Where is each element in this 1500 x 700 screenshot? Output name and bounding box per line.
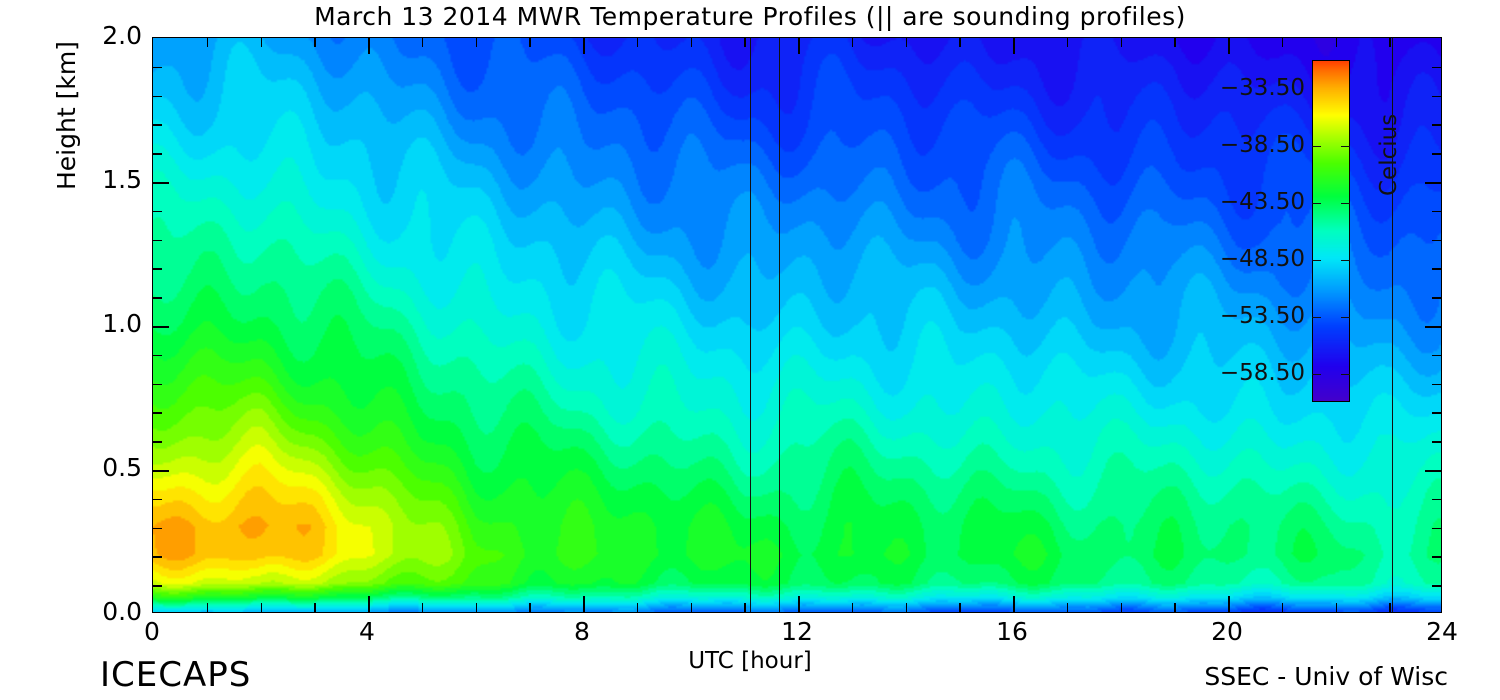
y-tick-left [153,211,162,213]
y-tick-left [153,585,162,587]
x-tick-top [906,38,908,47]
colorbar-tick [1312,260,1321,261]
x-tick-top [1174,38,1176,47]
y-tick-right [1432,67,1441,69]
y-tick-left [153,556,162,558]
x-tick-top [852,38,854,47]
x-tick-top [1013,38,1015,54]
x-tick-top [1389,38,1391,47]
x-tick-top [583,38,585,54]
x-tick-top [1336,38,1338,47]
x-tick-bottom [798,596,800,612]
x-tick-bottom [1174,603,1176,612]
y-tick-right [1432,124,1441,126]
colorbar-tick-label: −33.50 [1185,75,1305,101]
sounding-profile-line-2 [779,38,780,612]
project-label: ICECAPS [100,655,251,695]
y-tick-right [1432,499,1441,501]
x-tick-top [798,38,800,54]
y-tick-right [1425,182,1441,184]
colorbar-tick-label: −48.50 [1185,246,1305,272]
x-tick-bottom [1121,603,1123,612]
y-tick-left [153,355,162,357]
x-tick-top [422,38,424,47]
y-tick-right [1432,355,1441,357]
x-tick-top [691,38,693,47]
x-tick-bottom [906,603,908,612]
colorbar-tick [1312,146,1321,147]
y-tick-left [153,96,162,98]
y-tick-label: 0.0 [32,597,142,626]
y-tick-right [1432,384,1441,386]
x-tick-label: 8 [537,617,627,646]
colorbar-tick [1312,317,1321,318]
y-tick-right [1425,326,1441,328]
y-tick-left [153,528,162,530]
institution-credit: SSEC - Univ of Wisc [1204,662,1448,691]
x-tick-bottom [1228,596,1230,612]
x-tick-label: 16 [967,617,1057,646]
colorbar-tick-label: −53.50 [1185,303,1305,329]
x-tick-bottom [852,603,854,612]
x-tick-bottom [1013,596,1015,612]
x-tick-top [314,38,316,47]
x-tick-bottom [1389,603,1391,612]
y-tick-left [153,153,162,155]
x-tick-top [637,38,639,47]
x-tick-bottom [637,603,639,612]
y-tick-right [1432,412,1441,414]
y-tick-label: 1.5 [32,165,142,194]
y-tick-left [153,326,169,328]
x-tick-top [529,38,531,47]
y-tick-left [153,499,162,501]
figure-root: March 13 2014 MWR Temperature Profiles (… [0,0,1500,700]
x-tick-bottom [422,603,424,612]
colorbar-tick [1341,146,1350,147]
x-tick-top [368,38,370,54]
y-tick-right [1432,96,1441,98]
colorbar-tick [1312,374,1321,375]
x-tick-top [744,38,746,47]
y-tick-label: 0.5 [32,453,142,482]
x-tick-bottom [261,603,263,612]
y-tick-right [1432,240,1441,242]
colorbar-tick-label: −43.50 [1185,189,1305,215]
colorbar-tick [1341,374,1350,375]
y-tick-left [153,67,162,69]
y-tick-left [153,240,162,242]
x-tick-bottom [314,603,316,612]
y-tick-right [1432,528,1441,530]
x-tick-top [1228,38,1230,54]
y-tick-left [153,182,169,184]
x-tick-bottom [529,603,531,612]
colorbar-tick [1341,260,1350,261]
y-tick-left [153,268,162,270]
x-tick-top [959,38,961,47]
colorbar-tick [1341,203,1350,204]
figure-title: March 13 2014 MWR Temperature Profiles (… [0,2,1500,31]
colorbar-tick [1312,203,1321,204]
x-tick-label: 12 [752,617,842,646]
x-tick-top [1067,38,1069,47]
x-tick-top [476,38,478,47]
y-tick-right [1432,211,1441,213]
x-tick-bottom [583,596,585,612]
x-tick-label: 20 [1182,617,1272,646]
y-tick-right [1432,268,1441,270]
y-tick-right [1432,441,1441,443]
x-tick-label: 4 [322,617,412,646]
y-tick-left [153,384,162,386]
y-tick-left [153,470,169,472]
colorbar-canvas [1313,61,1349,401]
colorbar [1312,60,1350,402]
x-tick-bottom [1067,603,1069,612]
x-tick-bottom [368,596,370,612]
colorbar-tick-label: −38.50 [1185,132,1305,158]
x-tick-label: 24 [1397,617,1487,646]
x-tick-bottom [1336,603,1338,612]
x-tick-bottom [744,603,746,612]
sounding-profile-line-1 [750,38,751,612]
y-tick-label: 1.0 [32,309,142,338]
y-tick-right [1432,556,1441,558]
x-tick-bottom [691,603,693,612]
y-tick-right [1432,153,1441,155]
x-tick-top [261,38,263,47]
y-tick-right [1425,470,1441,472]
y-tick-right [1432,297,1441,299]
colorbar-title: Celcius [1376,114,1402,196]
y-axis-title: Height [km] [52,41,81,190]
x-tick-bottom [476,603,478,612]
x-tick-bottom [207,603,209,612]
y-tick-left [153,441,162,443]
y-tick-left [153,412,162,414]
y-tick-left [153,297,162,299]
y-tick-left [153,124,162,126]
colorbar-tick [1341,317,1350,318]
y-tick-right [1432,585,1441,587]
x-tick-top [1282,38,1284,47]
x-tick-bottom [1282,603,1284,612]
x-tick-top [1121,38,1123,47]
y-tick-label: 2.0 [32,21,142,50]
x-tick-top [207,38,209,47]
x-tick-bottom [959,603,961,612]
colorbar-tick-label: −58.50 [1185,360,1305,386]
